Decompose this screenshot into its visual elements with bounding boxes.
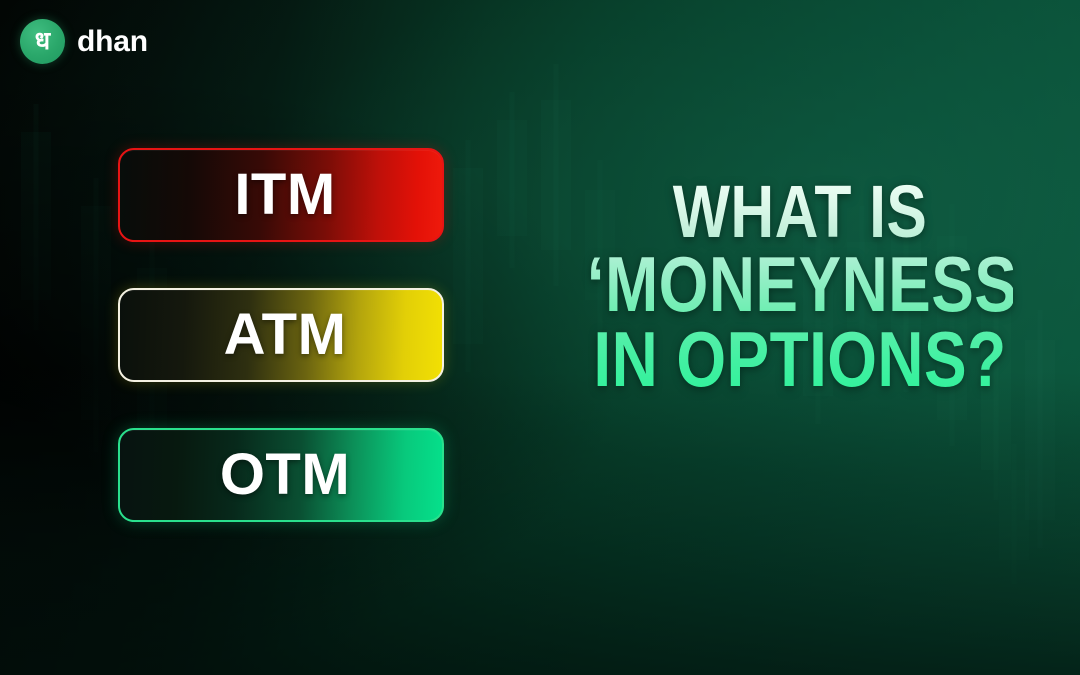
headline-line-3: IN OPTIONS? [587,322,1013,397]
moneyness-button-atm[interactable]: ATM [118,288,444,382]
moneyness-button-itm-label: ITM [234,166,335,224]
moneyness-button-otm[interactable]: OTM [118,428,444,522]
headline-line-2: ‘MONEYNESS’ [587,247,1013,322]
headline-line-1: WHAT IS [587,176,1013,247]
poster-canvas: ध dhan ITM ATM OTM WHAT IS ‘MONEYNESS’ I… [0,0,1080,675]
brand-logo[interactable]: ध dhan [20,19,148,64]
brand-wordmark: dhan [77,25,148,59]
dhan-logo-icon: ध [20,19,65,64]
dhan-logo-glyph: ध [35,28,50,53]
moneyness-button-atm-label: ATM [224,306,347,364]
moneyness-button-itm[interactable]: ITM [118,148,444,242]
moneyness-button-otm-label: OTM [220,446,350,504]
moneyness-button-group: ITM ATM OTM [118,148,444,522]
headline: WHAT IS ‘MONEYNESS’ IN OPTIONS? [540,176,1060,397]
